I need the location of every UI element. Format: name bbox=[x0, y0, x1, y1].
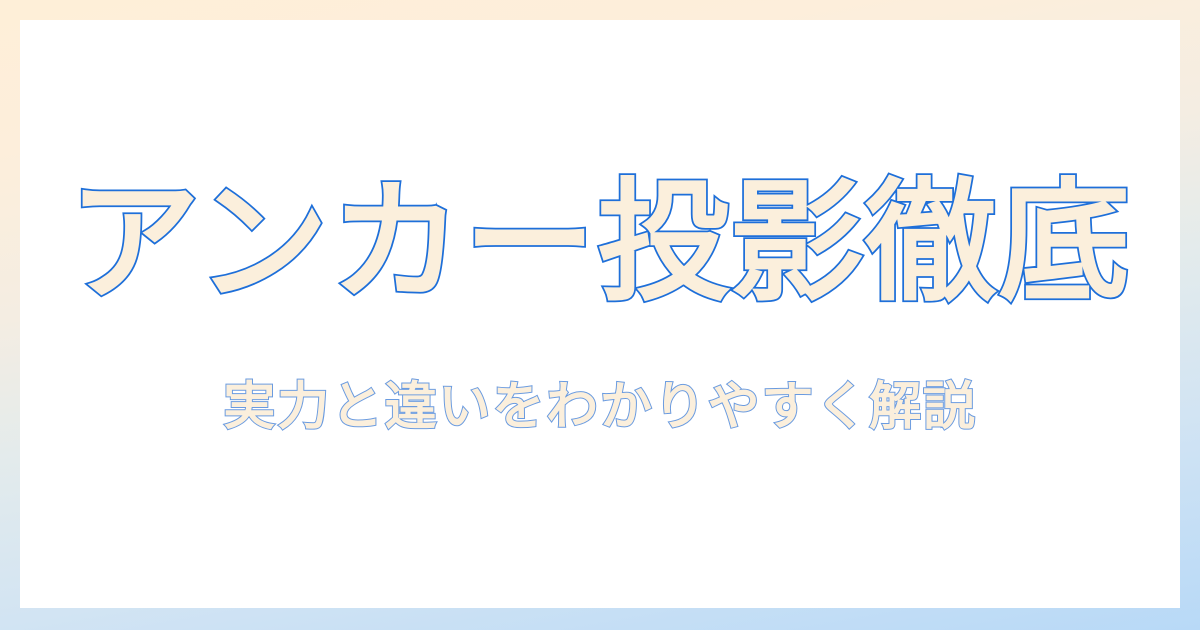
content-card: アンカー投影徹底 実力と違いをわかりやすく解説 bbox=[20, 20, 1180, 608]
page-title: アンカー投影徹底 bbox=[20, 172, 1180, 315]
text-stack: アンカー投影徹底 実力と違いをわかりやすく解説 bbox=[20, 172, 1180, 439]
poster-canvas: アンカー投影徹底 実力と違いをわかりやすく解説 bbox=[0, 0, 1200, 630]
page-subtitle: 実力と違いをわかりやすく解説 bbox=[20, 376, 1180, 438]
